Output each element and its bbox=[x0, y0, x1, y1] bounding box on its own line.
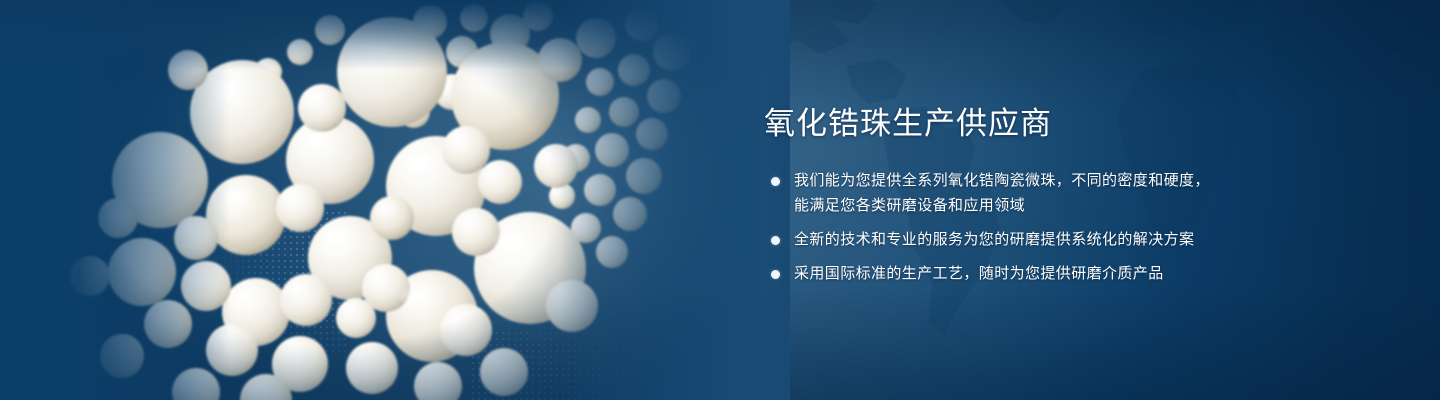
feature-list: 我们能为您提供全系列氧化锆陶瓷微珠，不同的密度和硬度， 能满足您各类研磨设备和应… bbox=[762, 168, 1382, 287]
page-title: 氧化锆珠生产供应商 bbox=[764, 104, 1382, 144]
bullet-dot-icon bbox=[771, 270, 780, 279]
list-item: 我们能为您提供全系列氧化锆陶瓷微珠，不同的密度和硬度， 能满足您各类研磨设备和应… bbox=[762, 168, 1382, 219]
list-item: 采用国际标准的生产工艺，随时为您提供研磨介质产品 bbox=[762, 261, 1382, 287]
hero-banner: 氧化锆珠生产供应商 我们能为您提供全系列氧化锆陶瓷微珠，不同的密度和硬度， 能满… bbox=[0, 0, 1440, 400]
list-item-line: 全新的技术和专业的服务为您的研磨提供系统化的解决方案 bbox=[794, 227, 1382, 253]
zirconia-beads-photo bbox=[0, 0, 760, 400]
bullet-dot-icon bbox=[771, 236, 780, 245]
list-item-line: 采用国际标准的生产工艺，随时为您提供研磨介质产品 bbox=[794, 261, 1382, 287]
list-item-line: 我们能为您提供全系列氧化锆陶瓷微珠，不同的密度和硬度， bbox=[794, 168, 1382, 194]
list-item-line: 能满足您各类研磨设备和应用领域 bbox=[794, 193, 1382, 219]
banner-copy: 氧化锆珠生产供应商 我们能为您提供全系列氧化锆陶瓷微珠，不同的密度和硬度， 能满… bbox=[762, 104, 1382, 287]
list-item: 全新的技术和专业的服务为您的研磨提供系统化的解决方案 bbox=[762, 227, 1382, 253]
bullet-dot-icon bbox=[771, 177, 780, 186]
